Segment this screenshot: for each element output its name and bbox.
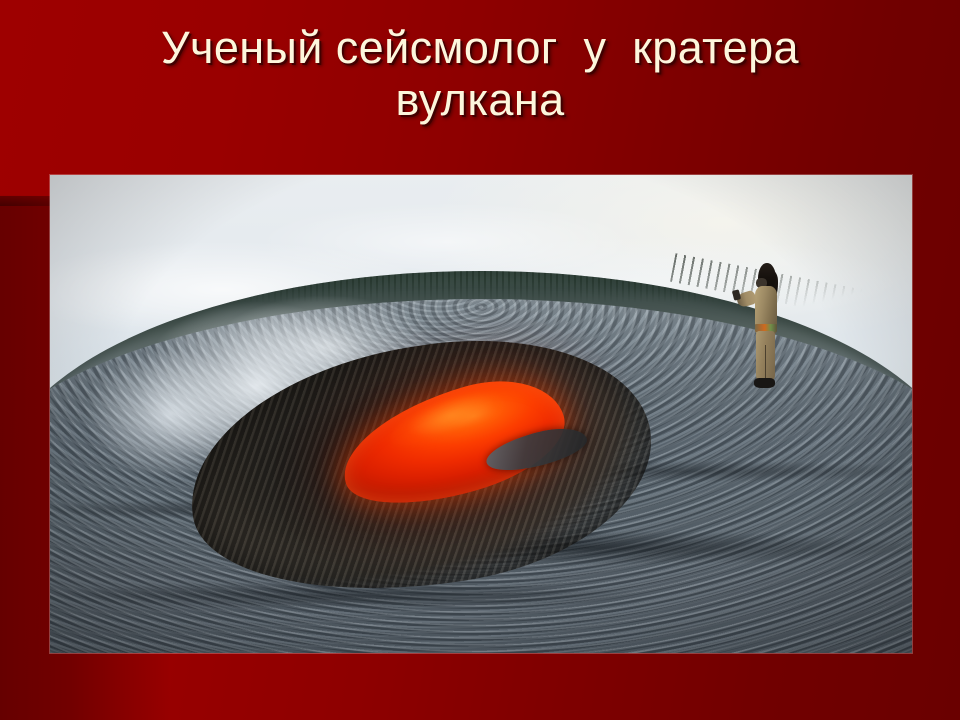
slide-title-line-2: вулкана bbox=[0, 74, 960, 126]
slide-title-line-1: Ученый сейсмолог у кратера bbox=[0, 22, 960, 74]
slide-title: Ученый сейсмолог у кратера вулкана bbox=[0, 22, 960, 126]
volcano-crater-photo bbox=[50, 175, 912, 653]
photo-vignette bbox=[50, 175, 912, 653]
presentation-slide: Ученый сейсмолог у кратера вулкана bbox=[0, 0, 960, 720]
